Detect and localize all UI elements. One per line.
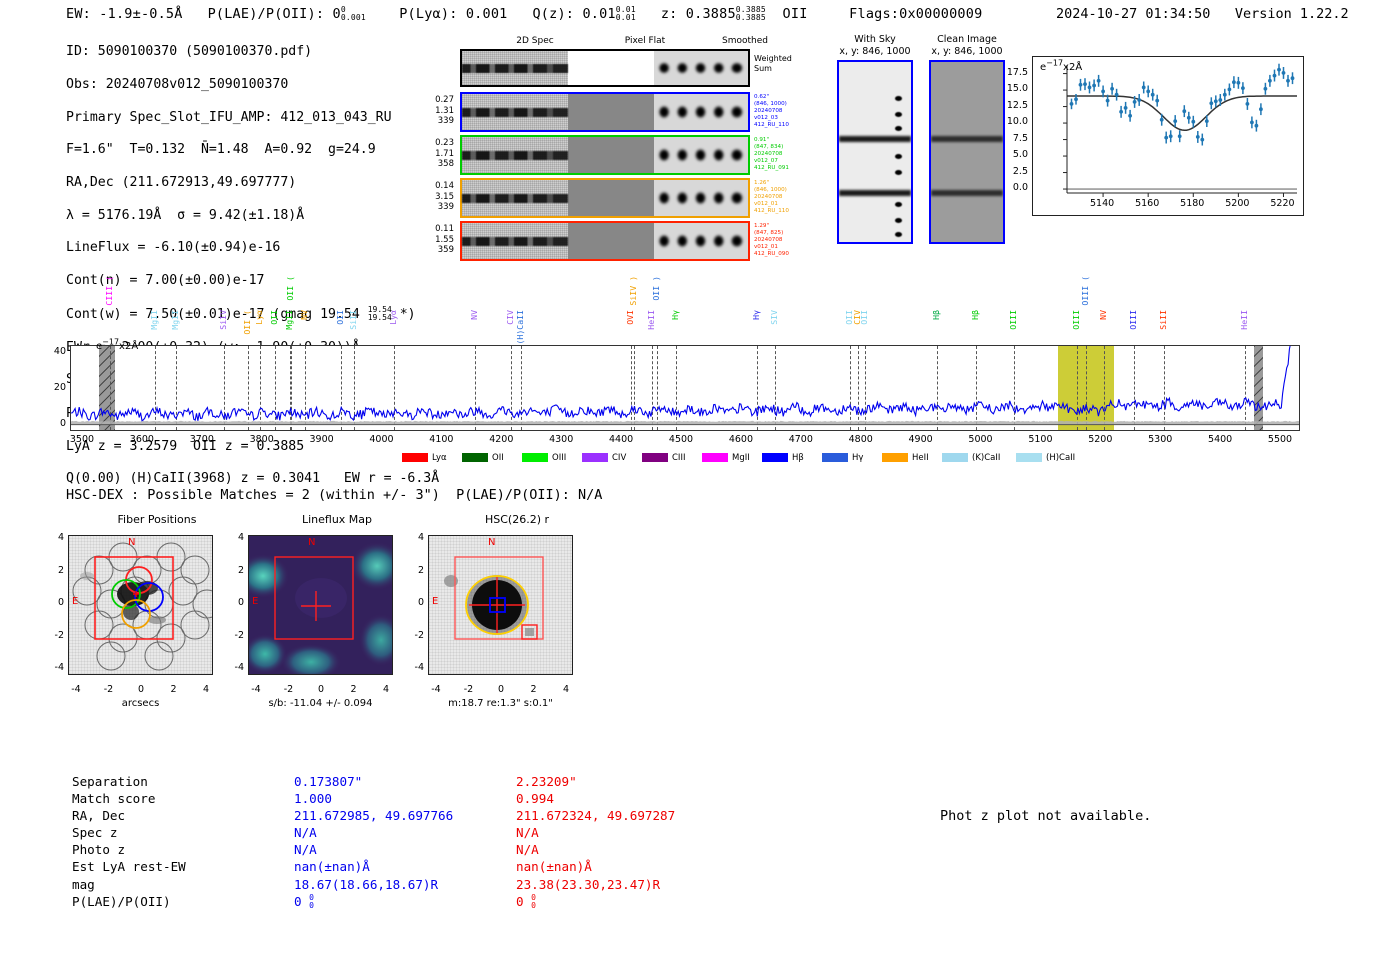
hsc-xtick: -2 (460, 684, 478, 695)
hsc-xtick: 0 (312, 684, 330, 695)
fiber-compass-n: N (128, 537, 135, 548)
spectrum-xtick: 4400 (601, 434, 641, 445)
table-cell-match2: N/A (516, 842, 675, 857)
hscdex-header: HSC-DEX : Possible Matches = 2 (within +… (66, 487, 602, 503)
spectrum-line-label: NV (1098, 310, 1108, 320)
timestamp: 2024-10-27 01:34:50 (1056, 6, 1210, 22)
header-qz-sub: 0.01 (616, 13, 636, 22)
table-row: RA, Dec211.672985, 49.697766211.672324, … (72, 808, 675, 823)
strip-smoothed-image (654, 51, 748, 85)
spectrum-line-label: OII ( (285, 276, 295, 301)
header-z-sub: 0.3885 (736, 13, 766, 22)
info-q-caii: Q(0.00) (H)CaII(3968) z = 0.3041 EW r = … (66, 471, 439, 487)
spectrum-line-label: MgII (149, 310, 159, 330)
spectrum-xtick: 4700 (781, 434, 821, 445)
hsc-xtick: -4 (427, 684, 445, 695)
hsc-ytick: 2 (228, 565, 244, 576)
spec2d-title-smoothed: Smoothed (690, 36, 800, 46)
spectrum-xtick: 4500 (661, 434, 701, 445)
panel-title-hsc-r: HSC(26.2) r (422, 513, 612, 526)
photoz-note: Phot z plot not available. (940, 808, 1151, 824)
table-row-label: RA, Dec (72, 808, 292, 823)
legend-swatch (402, 453, 428, 462)
legend-swatch (522, 453, 548, 462)
strip-2dspec-image (462, 51, 568, 85)
lineflux-compass-e: E (252, 596, 258, 607)
header-plae-label: P(LAE)/P(OII): 0 (208, 6, 341, 22)
spectrum-line-label: MgII (170, 310, 180, 330)
legend-label: HeII (912, 453, 929, 463)
with-sky-image (839, 62, 911, 242)
legend-swatch (642, 453, 668, 462)
fiber-left-values: 0.111.55359 (420, 224, 454, 256)
spectrum-line-label: SiIV ) (628, 276, 638, 306)
legend-label: MgII (732, 453, 750, 463)
info-cont-w-pre: Cont(w) = 7.50(±0.01)e-17 (gmag 19.54 (66, 307, 368, 322)
spec2d-weighted-sum-strip (460, 49, 750, 87)
spectrum-xtick: 5500 (1260, 434, 1300, 445)
table-row-label: Separation (72, 774, 292, 789)
spectrum-xtick: 5400 (1200, 434, 1240, 445)
fiber-2dspec (462, 94, 568, 130)
spectrum-xtick: 4000 (361, 434, 401, 445)
table-cell-match1: 1.000 (294, 791, 514, 806)
spectrum-xtick: 5300 (1140, 434, 1180, 445)
spectrum-line-label: Lyα (388, 310, 398, 325)
panel-title-fiber-positions: Fiber Positions (62, 513, 252, 526)
spectrum-xtick: 3700 (182, 434, 222, 445)
spectrum-xtick: 5000 (961, 434, 1001, 445)
table-cell-match2: 2.23209" (516, 774, 675, 789)
fiber-smoothed (654, 94, 748, 130)
table-cell-match1: nan(±nan)Å (294, 859, 514, 874)
header-timestamp-version: 2024-10-27 01:34:50 Version 1.22.2 (1056, 6, 1349, 22)
fiber-smoothed (654, 180, 748, 216)
spectrum-xtick: 3500 (62, 434, 102, 445)
hsc-compass-e: E (432, 596, 438, 607)
table-row: Match score1.0000.994 (72, 791, 675, 806)
fiber-strip[interactable] (460, 221, 750, 261)
spectrum-line-label: NV (299, 310, 309, 320)
profile-axes (1032, 56, 1304, 216)
spectrum-ytick: 40 (30, 346, 66, 357)
spectrum-line-label: CIII ( (104, 276, 114, 306)
hsc-xtick: 2 (345, 684, 363, 695)
spectrum-ytick: 0 (30, 418, 66, 429)
legend-label: Lyα (432, 453, 447, 463)
legend-swatch (942, 453, 968, 462)
spectrum-line-label: CIV (505, 310, 515, 325)
hsc-ytick: 4 (408, 532, 424, 543)
spectrum-line-label: (H)CaII (515, 310, 525, 345)
fiber-smoothed (654, 137, 748, 173)
hsc-ytick: 4 (228, 532, 244, 543)
hsc-ytick: -4 (228, 662, 244, 673)
spectrum-ytick: 20 (30, 382, 66, 393)
hsc-ytick: 0 (228, 597, 244, 608)
table-cell-match2: 211.672324, 49.697287 (516, 808, 675, 823)
table-row-label: Spec z (72, 825, 292, 840)
spectrum-line-label: Hγ (670, 310, 680, 320)
fiber-positions-image[interactable] (68, 535, 213, 675)
table-cell-match2: 23.38(23.30,23.47)R (516, 877, 675, 892)
table-row-label: mag (72, 877, 292, 892)
match-table: Separation0.173807"2.23209"Match score1.… (70, 772, 677, 912)
hsc-ytick: -4 (48, 662, 64, 673)
spectrum-xtick: 5200 (1080, 434, 1120, 445)
info-cont-n: Cont(n) = 7.00(±0.00)e-17 (66, 273, 439, 289)
info-lambda-sigma: λ = 5176.19Å σ = 9.42(±1.18)Å (66, 208, 439, 224)
table-cell-match2: N/A (516, 825, 675, 840)
table-row: Separation0.173807"2.23209" (72, 774, 675, 789)
fiber-left-values: 0.271.31339 (420, 95, 454, 127)
hsc-xtick: 2 (525, 684, 543, 695)
info-primary-spec: Primary Spec_Slot_IFU_AMP: 412_013_043_R… (66, 110, 439, 126)
table-row: Spec zN/AN/A (72, 825, 675, 840)
cutout-title-1: Clean Image (912, 34, 1022, 45)
table-cell-match1: 0 00 (294, 894, 514, 910)
spectrum-xtick: 4800 (841, 434, 881, 445)
table-row: mag18.67(18.66,18.67)R23.38(23.30,23.47)… (72, 877, 675, 892)
legend-label: (K)CaII (972, 453, 1000, 463)
fiber-strip[interactable] (460, 92, 750, 132)
spectrum-line-label: OII (269, 310, 279, 325)
spectrum-xtick: 3600 (122, 434, 162, 445)
header-flags: Flags:0x00000009 (849, 6, 982, 22)
legend-label: (H)CaII (1046, 453, 1075, 463)
spectrum-line-label: MgII (284, 310, 294, 330)
table-cell-match2: 0.994 (516, 791, 675, 806)
fiber-2dspec (462, 137, 568, 173)
hsc-xtick: -2 (100, 684, 118, 695)
hsc-xtick: 0 (492, 684, 510, 695)
spectrum-line-label: OII ( (242, 310, 252, 335)
info-obs: Obs: 20240708v012_5090100370 (66, 77, 439, 93)
profile-xtick: 5220 (1262, 198, 1302, 209)
profile-xtick: 5140 (1082, 198, 1122, 209)
info-cont-w: Cont(w) = 7.50(±0.01)e-17 (gmag 19.54 19… (66, 306, 439, 323)
spectrum-xtick: 4600 (721, 434, 761, 445)
legend-label: OII (492, 453, 504, 463)
spectrum-line-label: OIII (1071, 310, 1081, 330)
spectrum-line-label: OII (335, 310, 345, 325)
spectrum-xtick: 4200 (481, 434, 521, 445)
table-row: Photo zN/AN/A (72, 842, 675, 857)
strip-pixelflat-image (568, 51, 654, 85)
spec2d-title-pixelflat: Pixel Flat (590, 36, 700, 46)
header-qz-label: Q(z): 0.01 (532, 6, 615, 22)
spectrum-line-label: HeII (646, 310, 656, 330)
spectrum-line-label: SiIV (218, 310, 228, 330)
hsc-ytick: -2 (408, 630, 424, 641)
legend-swatch (582, 453, 608, 462)
hsc-r-image[interactable] (428, 535, 573, 675)
legend-swatch (462, 453, 488, 462)
lineflux-compass-n: N (308, 537, 315, 548)
hsc-ytick: -2 (228, 630, 244, 641)
hsc-xtick: 0 (132, 684, 150, 695)
hsc-compass-n: N (488, 537, 495, 548)
spectrum-line-label: Hβ (970, 310, 980, 320)
table-cell-match2: nan(±nan)Å (516, 859, 675, 874)
spectrum-line-label: Hγ (751, 310, 761, 320)
table-row-label: Photo z (72, 842, 292, 857)
spectrum-line-label: NV (469, 310, 479, 320)
hsc-ytick: 4 (48, 532, 64, 543)
fiber-compass-e: E (72, 596, 78, 607)
table-cell-match1: N/A (294, 842, 514, 857)
fiber-right-meta: 1.26"(846, 1000)20240708v012_01412_RU_11… (754, 180, 800, 215)
info-id: ID: 5090100370 (5090100370.pdf) (66, 44, 439, 60)
legend-label: Hγ (852, 453, 863, 463)
header-plae-sub: 0.001 (341, 13, 366, 22)
hsc-xtick: 4 (377, 684, 395, 695)
profile-ylabel: e−17x2Å (1040, 62, 1082, 73)
legend-swatch (882, 453, 908, 462)
spectrum-xtick: 4900 (901, 434, 941, 445)
spectrum-line-label: OIII (1008, 310, 1018, 330)
table-row: Est LyA rest-EWnan(±nan)Ånan(±nan)Å (72, 859, 675, 874)
table-row: P(LAE)/P(OII)0 000 00 (72, 894, 675, 910)
hsc-xtick: 4 (557, 684, 575, 695)
caption-hsc-r: m:18.7 re:1.3" s:0.1" (418, 698, 583, 709)
spectrum-line-label: OII (859, 310, 869, 325)
lineflux-map-image[interactable] (248, 535, 393, 675)
legend-label: CIV (612, 453, 626, 463)
header-plya: P(Lyα): 0.001 (399, 6, 507, 22)
weighted-sum-label: Weighted Sum (754, 54, 800, 74)
header-ew: EW: -1.9±-0.5Å (66, 6, 183, 22)
hsc-xtick: -4 (247, 684, 265, 695)
caption-fiber-positions: arcsecs (68, 698, 213, 709)
header-summary-line: EW: -1.9±-0.5Å P(LAE)/P(OII): 000.001 P(… (66, 6, 982, 22)
fiber-pixelflat (568, 223, 654, 259)
table-cell-match1: N/A (294, 825, 514, 840)
spectrum-line-label: OII ) (651, 276, 661, 301)
hsc-ytick: -4 (408, 662, 424, 673)
full-spectrum-axes (70, 345, 1300, 431)
legend-label: Hβ (792, 453, 804, 463)
panel-title-lineflux-map: Lineflux Map (242, 513, 432, 526)
spec2d-panel: 2D Spec Pixel Flat Smoothed Weighted Sum… (440, 36, 820, 256)
version: Version 1.22.2 (1235, 6, 1349, 22)
fiber-right-meta: 1.29"(847, 825)20240708v012_01412_RU_090 (754, 223, 800, 258)
hsc-ytick: 0 (48, 597, 64, 608)
fiber-right-meta: 0.62"(846, 1000)20240708v012_03412_RU_11… (754, 94, 800, 129)
spectrum-line-label: OIII ( (1080, 276, 1090, 306)
hsc-xtick: 2 (165, 684, 183, 695)
object-info-block: ID: 5090100370 (5090100370.pdf) Obs: 202… (66, 28, 439, 504)
fiber-2dspec (462, 223, 568, 259)
table-cell-match1: 211.672985, 49.697766 (294, 808, 514, 823)
spectrum-line-label: OVI (625, 310, 635, 325)
table-row-label: Match score (72, 791, 292, 806)
fiber-pixelflat (568, 94, 654, 130)
spectrum-xtick: 4100 (421, 434, 461, 445)
spectrum-line-label: SiII (348, 310, 358, 330)
hsc-ytick: -2 (48, 630, 64, 641)
hsc-xtick: -4 (67, 684, 85, 695)
spectrum-line-label: SiII (1158, 310, 1168, 330)
spectrum-line-label: OIII (1128, 310, 1138, 330)
spectrum-xtick: 5100 (1020, 434, 1060, 445)
fiber-left-values: 0.143.15339 (420, 181, 454, 213)
hsc-xtick: -2 (280, 684, 298, 695)
profile-xtick: 5160 (1127, 198, 1167, 209)
spectrum-xtick: 4300 (541, 434, 581, 445)
profile-xtick: 5180 (1172, 198, 1212, 209)
table-cell-match1: 18.67(18.66,18.67)R (294, 877, 514, 892)
hsc-ytick: 2 (408, 565, 424, 576)
spectrum-line-label: Lyα (254, 310, 264, 325)
hsc-ytick: 0 (408, 597, 424, 608)
hsc-ytick: 2 (48, 565, 64, 576)
legend-swatch (1016, 453, 1042, 462)
legend-swatch (822, 453, 848, 462)
cutout-coords-1: x, y: 846, 1000 (912, 46, 1022, 57)
table-row-label: Est LyA rest-EW (72, 859, 292, 874)
info-lineflux: LineFlux = -6.10(±0.94)e-16 (66, 240, 439, 256)
fiber-smoothed (654, 223, 748, 259)
table-cell-match1: 0.173807" (294, 774, 514, 789)
info-radec: RA,Dec (211.672913,49.697777) (66, 175, 439, 191)
spectrum-line-label: HeII (1239, 310, 1249, 330)
spectrum-line-label: Hβ (931, 310, 941, 320)
table-cell-match2: 0 00 (516, 894, 675, 910)
spec2d-title-2dspec: 2D Spec (480, 36, 590, 46)
fiber-strip[interactable] (460, 178, 750, 218)
legend-label: CIII (672, 453, 685, 463)
header-z-line: OII (783, 6, 808, 22)
spectrum-xtick: 3800 (242, 434, 282, 445)
fiber-right-meta: 0.91"(847, 834)20240708v012_07412_RU_091 (754, 137, 800, 172)
spectrum-xtick: 3900 (302, 434, 342, 445)
fiber-2dspec (462, 180, 568, 216)
spectrum-line-label: SIV (769, 310, 779, 325)
hsc-xtick: 4 (197, 684, 215, 695)
table-row-label: P(LAE)/P(OII) (72, 894, 292, 910)
header-z-label: z: 0.3885 (661, 6, 736, 22)
profile-xtick: 5200 (1217, 198, 1257, 209)
info-seeing: F=1.6" T=0.132 N̄=1.48 A=0.92 g=24.9 (66, 142, 439, 158)
fiber-strip[interactable] (460, 135, 750, 175)
legend-swatch (762, 453, 788, 462)
legend-swatch (702, 453, 728, 462)
legend-label: OIII (552, 453, 566, 463)
fiber-left-values: 0.231.71358 (420, 138, 454, 170)
fiber-pixelflat (568, 180, 654, 216)
caption-lineflux-map: s/b: -11.04 +/- 0.094 (238, 698, 403, 709)
spectrum-ylabel: e−17x2Å (96, 341, 138, 352)
fiber-pixelflat (568, 137, 654, 173)
clean-image (931, 62, 1003, 242)
